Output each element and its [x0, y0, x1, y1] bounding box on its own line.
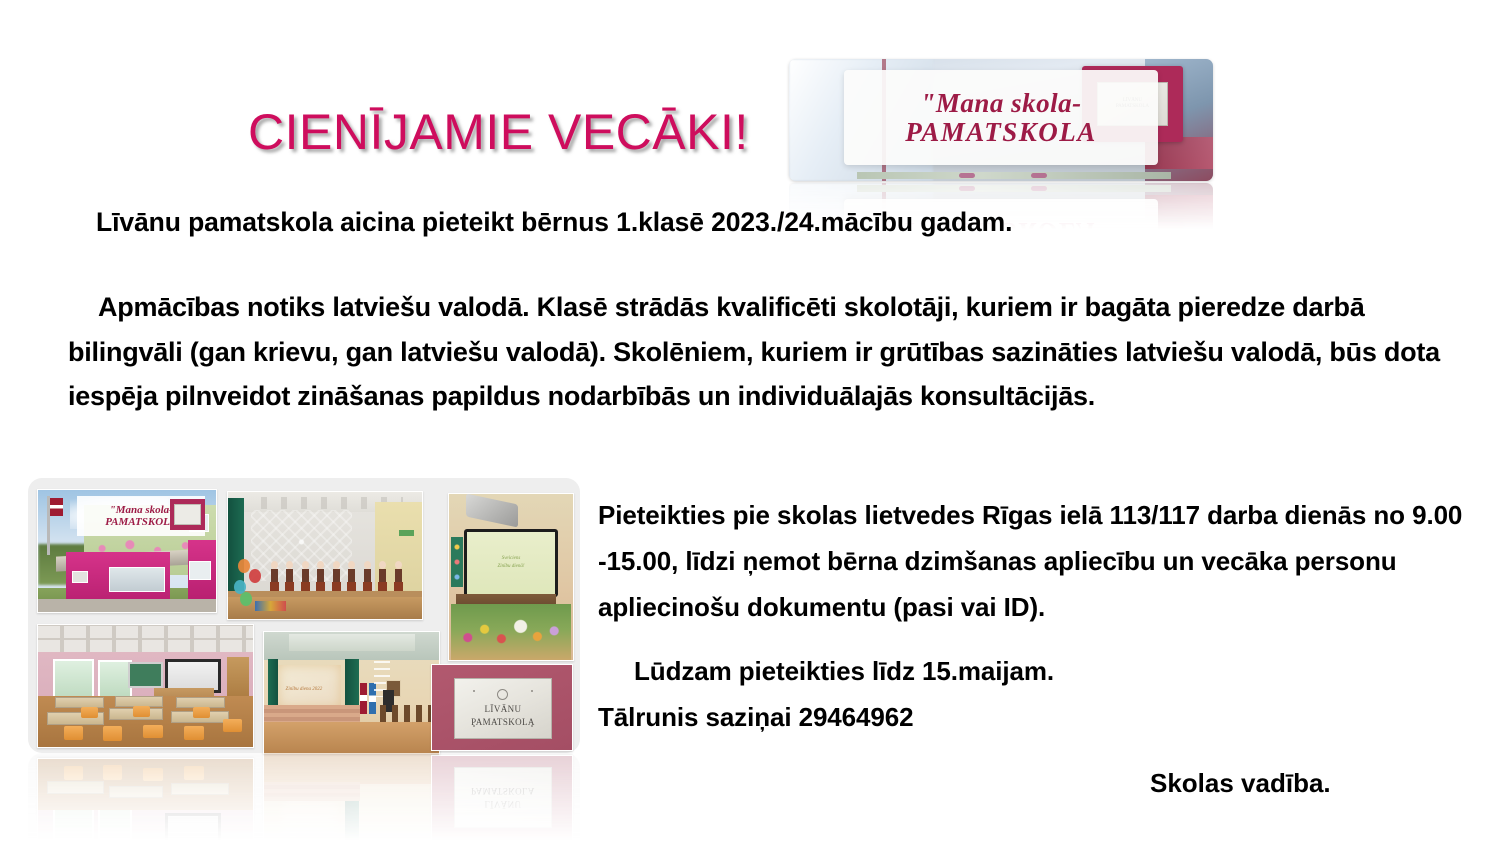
- building-pavement: [38, 599, 216, 612]
- plaque-screw-icon: [531, 725, 533, 727]
- smartboard-line1: Sveiciens: [502, 555, 521, 563]
- stage-child: [302, 561, 309, 591]
- photo-collage-reflection: LĪVĀNU PAMATSKOLA: [28, 753, 580, 849]
- classroom-chair: [64, 726, 83, 739]
- stage-child: [271, 561, 278, 591]
- classroom-chair: [223, 719, 242, 732]
- hall-chairs: [380, 705, 433, 722]
- banner-shelf: [857, 172, 1171, 179]
- photo-stage-performance: [227, 491, 423, 620]
- plaque-line2: PAMATSKOLA: [471, 716, 535, 728]
- reflection-photo-hall: [263, 753, 440, 849]
- building-overlay-line2: PAMATSKOLA: [105, 516, 177, 529]
- stage-child: [317, 561, 324, 591]
- banner-reflection-right-wall: [1145, 183, 1213, 229]
- smartboard-flowers: [451, 604, 570, 660]
- stage-child: [364, 561, 371, 591]
- photo-collage: "Mana skola- PAMATSKOLA: [28, 478, 580, 753]
- hall-latvian-flag: [360, 683, 367, 714]
- photo-classroom: [37, 624, 254, 748]
- smartboard-decor-strip: [451, 537, 462, 587]
- hall-screen-caption: Zinību diena 2022: [286, 687, 323, 692]
- building-entrance-window: [109, 567, 164, 592]
- deadline-line: Lūdzam pieteikties līdz 15.maijam.: [598, 648, 1478, 694]
- photo-school-building: "Mana skola- PAMATSKOLA: [37, 489, 217, 613]
- stage-child: [286, 561, 293, 591]
- reflection-plaque-line1: LĪVĀNU: [485, 798, 522, 810]
- reflection-plaque-plate: LĪVĀNU PAMATSKOLA: [454, 767, 551, 829]
- collage-background: "Mana skola- PAMATSKOLA: [28, 478, 580, 753]
- classroom-chair: [81, 707, 98, 718]
- classroom-chair: [193, 707, 210, 718]
- banner-reflection-plaque: [1082, 222, 1184, 229]
- banner-brand-line2: PAMATSKOLA: [905, 118, 1097, 147]
- photo-smartboard: Sveiciens Zinību dienā!: [448, 493, 574, 661]
- stage-child: [379, 561, 386, 591]
- banner-shelf-dot-left: [959, 173, 975, 178]
- plaque-line1: LĪVĀNU: [485, 703, 522, 715]
- building-overlay-plaque: [170, 499, 206, 531]
- reflection-photo-classroom: [37, 758, 254, 849]
- classroom-chalkboard: [128, 662, 162, 689]
- stage-exit-sign: [399, 530, 415, 536]
- smartboard-screen: Sveiciens Zinību dienā!: [464, 529, 558, 597]
- classroom-chair: [143, 725, 162, 738]
- signature-line: Skolas vadība.: [1150, 768, 1331, 799]
- contact-paragraph: Pieteikties pie skolas lietvedes Rīgas i…: [598, 492, 1478, 630]
- classroom-chair: [103, 726, 122, 741]
- stage-child: [395, 561, 402, 591]
- lead-paragraph: Līvānu pamatskola aicina pieteikt bērnus…: [96, 207, 1012, 238]
- stage-child: [348, 561, 355, 591]
- hall-ceiling-inset: [289, 634, 415, 651]
- phone-line: Tālrunis saziņai 29464962: [598, 694, 1478, 740]
- photo-assembly-hall: Zinību diena 2022: [263, 631, 440, 754]
- banner-image: LĪVĀNU PAMATSKOLA "Mana skola- PAMATSKOL…: [789, 59, 1213, 181]
- stage-balloon-green: [240, 592, 252, 606]
- hall-floor: [264, 722, 439, 753]
- reflection-plaque-line2: PAMATSKOLA: [471, 785, 535, 797]
- page-title: CIENĪJAMIE VECĀKI!: [248, 103, 749, 161]
- stage-table: [255, 601, 286, 611]
- reflection-photo-plaque: LĪVĀNU PAMATSKOLA: [431, 755, 573, 842]
- stage-child: [333, 561, 340, 591]
- building-window-right-lower: [189, 561, 211, 580]
- plaque-emblem-icon: [497, 689, 508, 700]
- hall-projection-screen: Zinību diena 2022: [278, 665, 341, 709]
- banner-reflection-shelf: [857, 185, 1171, 192]
- header-banner-photo: LĪVĀNU PAMATSKOLA "Mana skola- PAMATSKOL…: [789, 59, 1213, 181]
- smartboard-line2: Zinību dienā!: [497, 563, 524, 571]
- collage-reflection-background: LĪVĀNU PAMATSKOLA: [28, 753, 580, 849]
- classroom-ceiling: [38, 625, 253, 652]
- plaque-screw-icon: [531, 690, 533, 692]
- plaque-screw-icon: [473, 690, 475, 692]
- photo-school-plaque: LĪVĀNU PAMATSKOLA: [431, 664, 573, 751]
- building-sign-plate: [72, 571, 88, 583]
- main-paragraph: Apmācības notiks latviešu valodā. Klasē …: [68, 285, 1480, 419]
- stage-balloon-orange: [238, 559, 250, 573]
- plaque-plate: LĪVĀNU PAMATSKOLA: [454, 678, 551, 740]
- building-flag: [47, 496, 50, 555]
- building-overlay-line1: "Mana skola-: [110, 504, 173, 517]
- banner-brand-line1: "Mana skola-: [920, 89, 1081, 118]
- reflection-photo-smartboard: [448, 845, 574, 849]
- smartboard-screen-content: Sveiciens Zinību dienā!: [467, 532, 555, 594]
- classroom-chair: [184, 726, 203, 739]
- banner-shelf-dot-right: [1031, 173, 1047, 178]
- banner-brand-text: "Mana skola- PAMATSKOLA: [844, 70, 1158, 165]
- classroom-chair: [133, 706, 150, 717]
- banner-reflection-dot2: [1031, 186, 1047, 191]
- banner-reflection-stripe: [1145, 195, 1213, 227]
- banner-reflection-dot1: [959, 186, 975, 191]
- contact-block: Pieteikties pie skolas lietvedes Rīgas i…: [598, 492, 1478, 740]
